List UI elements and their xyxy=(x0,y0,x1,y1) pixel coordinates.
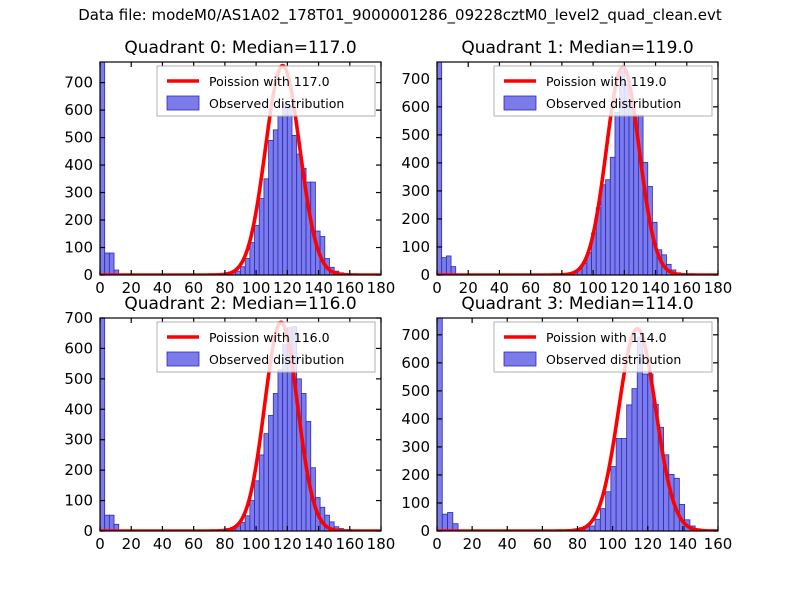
y-tick-label: 700 xyxy=(401,70,430,88)
histogram-bar xyxy=(606,180,611,275)
y-tick-label: 200 xyxy=(401,210,430,228)
histogram-bar xyxy=(446,256,451,275)
legend-label: Poission with 116.0 xyxy=(209,330,330,345)
x-tick-label: 120 xyxy=(273,535,302,553)
y-tick-label: 500 xyxy=(401,126,430,144)
histogram-bar xyxy=(595,519,600,531)
y-tick-label: 400 xyxy=(64,156,93,174)
x-tick-label: 40 xyxy=(153,535,172,553)
histogram-bar xyxy=(105,253,110,275)
histogram-bar xyxy=(590,526,595,531)
y-tick-label: 300 xyxy=(64,431,93,449)
histogram-bar xyxy=(264,434,269,531)
histogram-bar xyxy=(278,370,283,531)
y-tick-label: 200 xyxy=(401,466,430,484)
x-tick-label: 60 xyxy=(533,535,552,553)
histogram-bar xyxy=(109,253,114,275)
histogram-bar xyxy=(621,439,626,531)
legend-label: Observed distribution xyxy=(209,96,344,111)
histogram-bar xyxy=(109,515,114,531)
x-tick-label: 60 xyxy=(184,535,203,553)
x-tick-label: 140 xyxy=(669,535,698,553)
legend-label: Observed distribution xyxy=(209,352,344,367)
y-tick-label: 0 xyxy=(83,266,93,284)
y-tick-label: 500 xyxy=(401,382,430,400)
legend-patch-marker xyxy=(504,352,536,366)
y-tick-label: 400 xyxy=(401,154,430,172)
y-tick-label: 0 xyxy=(420,266,430,284)
histogram-bar xyxy=(448,513,453,532)
histogram-bar xyxy=(269,140,274,275)
axes-title: Quadrant 3: Median=114.0 xyxy=(461,294,693,314)
histogram-bar xyxy=(273,393,278,531)
y-tick-label: 600 xyxy=(64,101,93,119)
histogram-bar xyxy=(611,467,616,531)
legend-patch-marker xyxy=(504,96,536,110)
y-tick-label: 700 xyxy=(401,326,430,344)
histogram-bar xyxy=(292,135,297,275)
legend[interactable]: Poission with 117.0Observed distribution xyxy=(157,66,375,116)
histogram-bar xyxy=(100,62,105,275)
legend-label: Poission with 114.0 xyxy=(546,330,667,345)
y-tick-label: 500 xyxy=(64,129,93,147)
x-tick-label: 80 xyxy=(568,535,587,553)
y-tick-label: 0 xyxy=(83,522,93,540)
histogram-bar xyxy=(442,514,447,531)
histogram-bar xyxy=(283,345,288,531)
axes-title: Quadrant 2: Median=116.0 xyxy=(124,294,356,314)
histogram-bar xyxy=(629,103,634,275)
x-tick-label: 40 xyxy=(498,535,517,553)
x-tick-label: 20 xyxy=(122,535,141,553)
histogram-bar xyxy=(610,157,615,275)
x-tick-label: 180 xyxy=(367,279,396,297)
x-tick-label: 0 xyxy=(432,279,442,297)
histogram-bar xyxy=(616,439,621,531)
x-tick-label: 160 xyxy=(704,535,733,553)
histogram-bar xyxy=(264,179,269,275)
histogram-bar xyxy=(642,374,647,531)
legend-patch-marker xyxy=(167,352,199,366)
x-tick-label: 0 xyxy=(432,535,442,553)
histogram-bar xyxy=(269,415,274,531)
y-tick-label: 600 xyxy=(64,339,93,357)
x-tick-label: 100 xyxy=(242,535,271,553)
legend[interactable]: Poission with 119.0Observed distribution xyxy=(494,66,712,116)
x-tick-label: 80 xyxy=(215,535,234,553)
legend[interactable]: Poission with 114.0Observed distribution xyxy=(494,322,712,372)
x-tick-label: 20 xyxy=(463,535,482,553)
figure-suptitle: Data file: modeM0/AS1A02_178T01_90000012… xyxy=(78,6,722,25)
histogram-bar xyxy=(259,199,264,275)
histogram-bar xyxy=(255,481,260,531)
x-tick-label: 100 xyxy=(598,535,627,553)
x-tick-label: 0 xyxy=(95,279,105,297)
histogram-bar xyxy=(273,130,278,275)
histogram-bar xyxy=(442,258,447,275)
histogram-bar xyxy=(297,154,302,275)
legend-label: Observed distribution xyxy=(546,352,681,367)
histogram-bar xyxy=(601,185,606,275)
x-tick-label: 180 xyxy=(704,279,733,297)
y-tick-label: 400 xyxy=(401,410,430,428)
y-tick-label: 700 xyxy=(64,74,93,92)
histogram-bar xyxy=(241,267,246,275)
y-tick-label: 700 xyxy=(64,309,93,327)
histogram-bar xyxy=(287,107,292,275)
legend-label: Poission with 119.0 xyxy=(546,74,667,89)
x-tick-label: 180 xyxy=(367,535,396,553)
histogram-bar xyxy=(250,243,255,275)
histogram-bar xyxy=(278,116,283,275)
y-tick-label: 100 xyxy=(64,239,93,257)
histogram-bar xyxy=(283,105,288,275)
y-tick-label: 0 xyxy=(420,522,430,540)
histogram-bar xyxy=(600,509,605,531)
y-tick-label: 300 xyxy=(401,438,430,456)
y-tick-label: 500 xyxy=(64,370,93,388)
y-tick-label: 300 xyxy=(401,182,430,200)
histogram-bar xyxy=(632,389,637,531)
axes-title: Quadrant 0: Median=117.0 xyxy=(124,38,356,58)
y-tick-label: 200 xyxy=(64,461,93,479)
y-tick-label: 100 xyxy=(401,494,430,512)
y-tick-label: 400 xyxy=(64,400,93,418)
x-tick-label: 160 xyxy=(335,535,364,553)
histogram-bar xyxy=(250,501,255,531)
legend-label: Poission with 117.0 xyxy=(209,74,330,89)
y-tick-label: 600 xyxy=(401,98,430,116)
histogram-bar xyxy=(245,259,250,275)
y-tick-label: 300 xyxy=(64,184,93,202)
histogram-bar xyxy=(437,62,442,275)
y-tick-label: 200 xyxy=(64,211,93,229)
y-tick-label: 100 xyxy=(401,238,430,256)
histogram-bar xyxy=(241,522,246,531)
x-tick-label: 140 xyxy=(304,535,333,553)
histogram-bar xyxy=(100,318,105,531)
histogram-bar xyxy=(259,455,264,531)
legend[interactable]: Poission with 116.0Observed distribution xyxy=(157,322,375,372)
x-tick-label: 0 xyxy=(95,535,105,553)
x-tick-label: 120 xyxy=(633,535,662,553)
histogram-bar xyxy=(245,516,250,531)
histogram-bar xyxy=(105,515,110,531)
histogram-bar xyxy=(255,226,260,275)
y-tick-label: 100 xyxy=(64,492,93,510)
legend-patch-marker xyxy=(167,96,199,110)
histogram-bar xyxy=(437,318,442,531)
histogram-bar xyxy=(627,405,632,531)
y-tick-label: 600 xyxy=(401,354,430,372)
figure-canvas: Data file: modeM0/AS1A02_178T01_90000012… xyxy=(0,0,800,600)
matplotlib-figure: Data file: modeM0/AS1A02_178T01_90000012… xyxy=(0,0,800,600)
histogram-bar xyxy=(615,112,620,275)
histogram-bar xyxy=(606,492,611,531)
axes-title: Quadrant 1: Median=119.0 xyxy=(461,38,693,58)
legend-label: Observed distribution xyxy=(546,96,681,111)
